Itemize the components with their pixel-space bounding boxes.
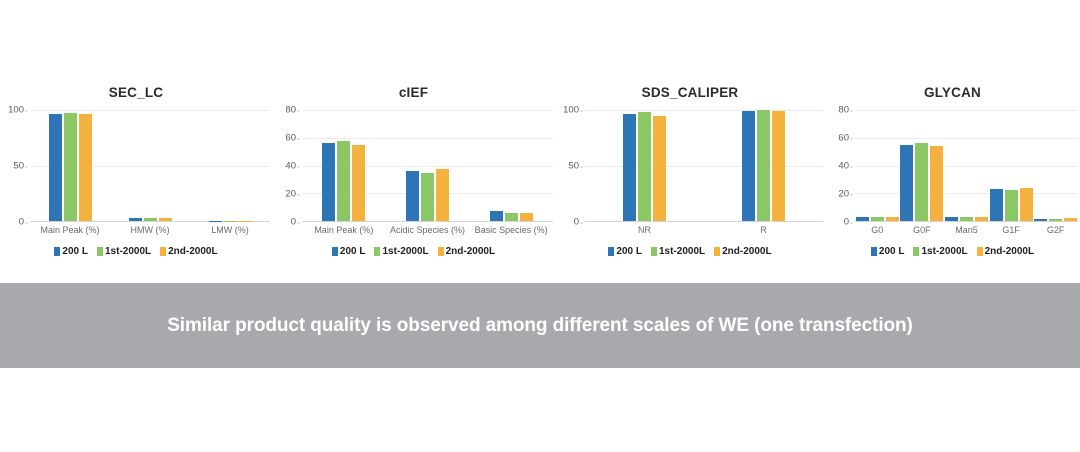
x-axis-label: R <box>704 222 823 238</box>
legend-label: 200 L <box>62 246 88 257</box>
legend-label: 2nd-2000L <box>722 246 771 257</box>
bar-group <box>469 110 553 221</box>
bar-group <box>585 110 704 221</box>
legend-item[interactable]: 1st-2000L <box>97 246 151 257</box>
chart-panel-sec_lc: SEC_LC050100Main Peak (%)HMW (%)LMW (%)2… <box>0 78 272 278</box>
bar-group <box>30 110 110 221</box>
chart-legend: 200 L1st-2000L2nd-2000L <box>272 246 555 257</box>
bar <box>337 141 350 221</box>
bar <box>1020 188 1033 221</box>
plot-area <box>855 110 1078 222</box>
legend-swatch-icon <box>97 247 103 256</box>
y-axis-tick: 20 <box>285 189 296 200</box>
y-axis-tick: 40 <box>838 161 849 172</box>
plot-area <box>302 110 553 222</box>
y-axis: 050100 <box>0 110 28 222</box>
legend-label: 200 L <box>616 246 642 257</box>
x-axis-label: Man5 <box>944 222 989 238</box>
legend-swatch-icon <box>54 247 60 256</box>
legend-swatch-icon <box>977 247 983 256</box>
bar-groups <box>302 110 553 221</box>
y-axis-tick: 50 <box>13 161 24 172</box>
chart-legend: 200 L1st-2000L2nd-2000L <box>555 246 825 257</box>
bar <box>421 173 434 221</box>
chart-panel-glycan: GLYCAN020406080G0G0FMan5G1FG2F200 L1st-2… <box>825 78 1080 278</box>
y-axis-tick: 20 <box>838 189 849 200</box>
y-axis-tick: 80 <box>838 105 849 116</box>
legend-item[interactable]: 2nd-2000L <box>160 246 217 257</box>
legend-label: 1st-2000L <box>659 246 705 257</box>
chart-title: GLYCAN <box>825 84 1080 102</box>
legend-label: 2nd-2000L <box>446 246 495 257</box>
legend-item[interactable]: 1st-2000L <box>651 246 705 257</box>
bar <box>322 143 335 221</box>
legend-label: 200 L <box>879 246 905 257</box>
legend-item[interactable]: 1st-2000L <box>374 246 428 257</box>
y-axis-tick: 0 <box>291 217 296 228</box>
x-axis-label: G0 <box>855 222 900 238</box>
y-axis-tick: 100 <box>8 105 24 116</box>
x-axis-label: G1F <box>989 222 1034 238</box>
bar-group <box>855 110 900 221</box>
y-axis: 050100 <box>555 110 583 222</box>
bar <box>945 217 958 221</box>
bar-group <box>944 110 989 221</box>
bar <box>1034 219 1047 221</box>
x-axis-label: NR <box>585 222 704 238</box>
legend-swatch-icon <box>871 247 877 256</box>
y-axis-tick: 0 <box>574 217 579 228</box>
y-axis: 020406080 <box>825 110 853 222</box>
bar <box>742 111 755 221</box>
x-axis-label: Main Peak (%) <box>30 222 110 238</box>
plot-wrap: 050100 <box>555 110 825 222</box>
legend-item[interactable]: 200 L <box>54 246 88 257</box>
x-axis-label: LMW (%) <box>190 222 270 238</box>
bar <box>1049 219 1062 221</box>
bar <box>930 146 943 221</box>
x-axis-label: Basic Species (%) <box>469 222 553 238</box>
x-axis: NRR <box>585 222 823 238</box>
legend-item[interactable]: 200 L <box>608 246 642 257</box>
x-axis: Main Peak (%)HMW (%)LMW (%) <box>30 222 270 238</box>
legend-item[interactable]: 2nd-2000L <box>438 246 495 257</box>
y-axis-tick: 80 <box>285 105 296 116</box>
bar <box>64 113 77 221</box>
legend-swatch-icon <box>913 247 919 256</box>
legend-swatch-icon <box>714 247 720 256</box>
charts-strip: SEC_LC050100Main Peak (%)HMW (%)LMW (%)2… <box>0 78 1080 278</box>
legend-item[interactable]: 200 L <box>871 246 905 257</box>
x-axis: G0G0FMan5G1FG2F <box>855 222 1078 238</box>
bar <box>757 110 770 221</box>
y-axis-tick: 60 <box>285 133 296 144</box>
bar <box>623 114 636 221</box>
bar-groups <box>30 110 270 221</box>
plot-area <box>585 110 823 222</box>
legend-label: 1st-2000L <box>105 246 151 257</box>
bar <box>79 114 92 221</box>
legend-item[interactable]: 200 L <box>332 246 366 257</box>
legend-swatch-icon <box>374 247 380 256</box>
bar <box>960 217 973 221</box>
bar-group <box>1033 110 1078 221</box>
chart-legend: 200 L1st-2000L2nd-2000L <box>825 246 1080 257</box>
legend-swatch-icon <box>651 247 657 256</box>
bar-group <box>110 110 190 221</box>
bar-groups <box>855 110 1078 221</box>
banner-text: Similar product quality is observed amon… <box>167 315 913 337</box>
plot-wrap: 020406080 <box>825 110 1080 222</box>
x-axis: Main Peak (%)Acidic Species (%)Basic Spe… <box>302 222 553 238</box>
bar <box>1064 218 1077 221</box>
x-axis-label: Main Peak (%) <box>302 222 386 238</box>
bar <box>406 171 419 221</box>
bar-group <box>704 110 823 221</box>
x-axis-label: G2F <box>1033 222 1078 238</box>
bar-group <box>386 110 470 221</box>
y-axis: 020406080 <box>272 110 300 222</box>
bar <box>990 189 1003 221</box>
bar <box>505 213 518 221</box>
legend-label: 2nd-2000L <box>168 246 217 257</box>
chart-legend: 200 L1st-2000L2nd-2000L <box>0 246 272 257</box>
bar <box>1005 190 1018 221</box>
bar <box>144 218 157 221</box>
bar-group <box>302 110 386 221</box>
y-axis-tick: 60 <box>838 133 849 144</box>
x-axis-label: G0F <box>900 222 945 238</box>
y-axis-tick: 40 <box>285 161 296 172</box>
bar <box>49 114 62 221</box>
bar <box>886 217 899 221</box>
bar <box>653 116 666 221</box>
legend-item[interactable]: 2nd-2000L <box>714 246 771 257</box>
bar <box>772 111 785 221</box>
bar <box>856 217 869 221</box>
legend-swatch-icon <box>438 247 444 256</box>
chart-panel-cief: cIEF020406080Main Peak (%)Acidic Species… <box>272 78 555 278</box>
y-axis-tick: 0 <box>844 217 849 228</box>
chart-title: SDS_CALIPER <box>555 84 825 102</box>
bar <box>520 213 533 221</box>
plot-area <box>30 110 270 222</box>
bar <box>638 112 651 221</box>
y-axis-tick: 50 <box>568 161 579 172</box>
bar <box>159 218 172 221</box>
chart-panel-sds_caliper: SDS_CALIPER050100NRR200 L1st-2000L2nd-20… <box>555 78 825 278</box>
legend-label: 1st-2000L <box>921 246 967 257</box>
bar <box>129 218 142 221</box>
x-axis-label: HMW (%) <box>110 222 190 238</box>
bar <box>871 217 884 221</box>
bar-group <box>190 110 270 221</box>
chart-title: cIEF <box>272 84 555 102</box>
legend-item[interactable]: 2nd-2000L <box>977 246 1034 257</box>
y-axis-tick: 100 <box>563 105 579 116</box>
chart-title: SEC_LC <box>0 84 272 102</box>
bar <box>436 169 449 221</box>
bar-groups <box>585 110 823 221</box>
bar <box>490 211 503 221</box>
bar-group <box>989 110 1034 221</box>
legend-label: 1st-2000L <box>382 246 428 257</box>
bar-group <box>900 110 945 221</box>
legend-swatch-icon <box>608 247 614 256</box>
bar <box>975 217 988 221</box>
legend-label: 2nd-2000L <box>985 246 1034 257</box>
bar <box>900 145 913 221</box>
plot-wrap: 020406080 <box>272 110 555 222</box>
summary-banner: Similar product quality is observed amon… <box>0 283 1080 368</box>
legend-item[interactable]: 1st-2000L <box>913 246 967 257</box>
y-axis-tick: 0 <box>19 217 24 228</box>
x-axis-label: Acidic Species (%) <box>386 222 470 238</box>
bar <box>352 145 365 221</box>
legend-label: 200 L <box>340 246 366 257</box>
bar <box>915 143 928 221</box>
legend-swatch-icon <box>160 247 166 256</box>
plot-wrap: 050100 <box>0 110 272 222</box>
legend-swatch-icon <box>332 247 338 256</box>
